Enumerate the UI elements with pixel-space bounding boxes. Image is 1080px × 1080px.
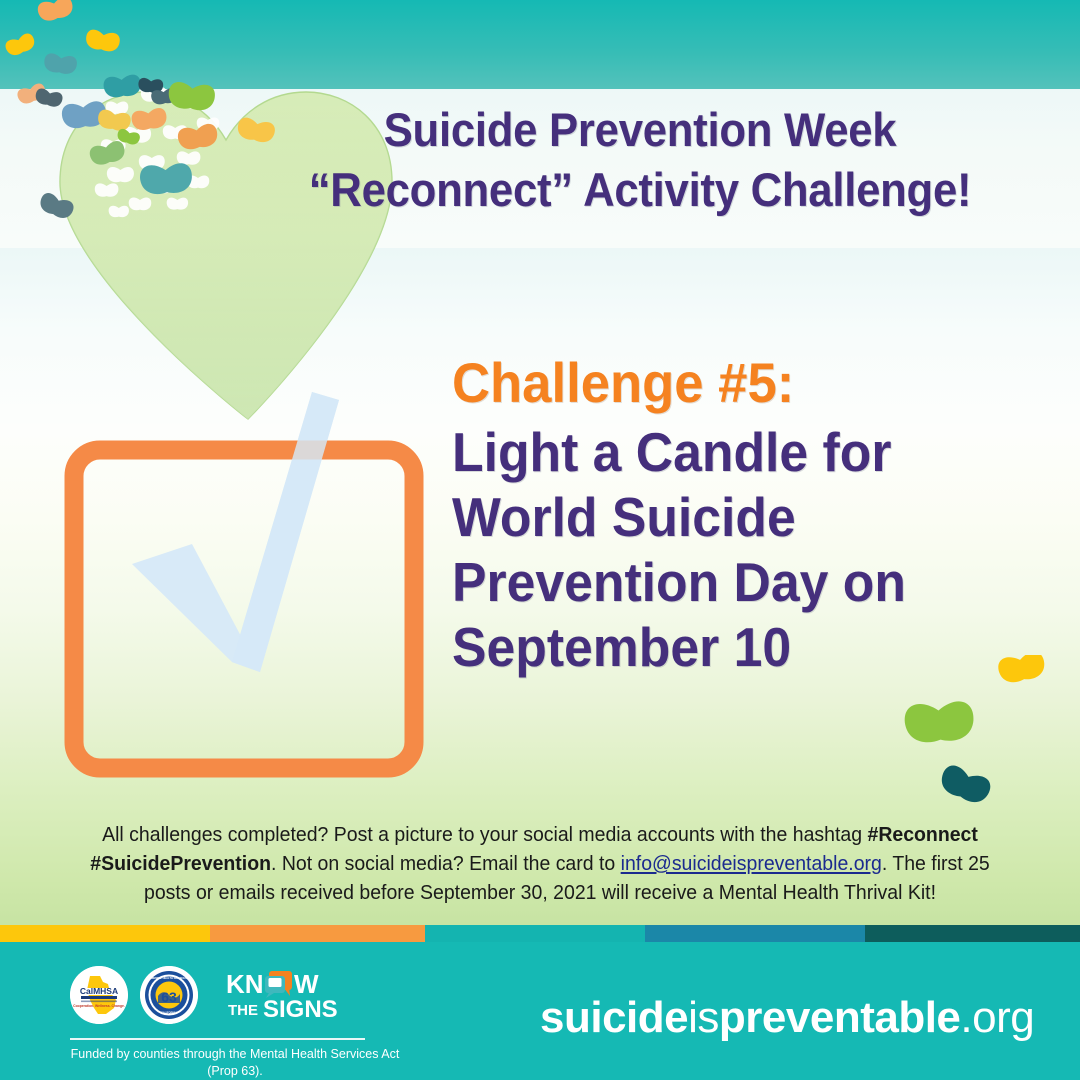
stripe-blue bbox=[645, 925, 865, 942]
stripe-yellow bbox=[0, 925, 210, 942]
kts-the-text: THE bbox=[228, 1002, 258, 1019]
challenge-number: Challenge #5: bbox=[452, 352, 978, 414]
footer-logo-group: CalMHSA Cooperation. Wellness. Change. 6… bbox=[70, 966, 352, 1024]
stripe-dark-teal bbox=[865, 925, 1080, 942]
speech-bubble-icon bbox=[265, 971, 292, 998]
header-title-line-2: “Reconnect” Activity Challenge! bbox=[268, 160, 1012, 220]
header-title-block: Suicide Prevention Week “Reconnect” Acti… bbox=[240, 100, 1040, 220]
footer-divider bbox=[70, 1038, 365, 1040]
website-url[interactable]: suicideispreventable.org bbox=[540, 988, 1040, 1048]
url-part-org: .org bbox=[960, 993, 1034, 1042]
url-part-suicide: suicide bbox=[540, 993, 688, 1042]
checkmark-icon bbox=[132, 392, 339, 672]
svg-text:Cooperation. Wellness. Change.: Cooperation. Wellness. Change. bbox=[73, 1004, 125, 1008]
challenge-title-line-3: Prevention Day on bbox=[452, 550, 978, 615]
url-part-is: is bbox=[688, 993, 719, 1042]
butterfly-icon bbox=[904, 700, 975, 744]
butterfly-group-bottom-right bbox=[900, 655, 1080, 820]
stripe-orange bbox=[210, 925, 425, 942]
body-hashtag-1: #Reconnect bbox=[867, 823, 977, 846]
butterfly-icon bbox=[937, 762, 993, 807]
funding-text: Funded by counties through the Mental He… bbox=[70, 1046, 400, 1080]
mhsoac-seal-logo: 63 MENTAL HEALTH SERVICES CALIFORNIA bbox=[140, 966, 198, 1024]
challenge-title: Light a Candle for World Suicide Prevent… bbox=[452, 420, 978, 680]
body-paragraph: All challenges completed? Post a picture… bbox=[65, 820, 1015, 907]
challenge-block: Challenge #5: Light a Candle for World S… bbox=[452, 352, 1012, 680]
kts-signs-text: SIGNS bbox=[263, 996, 338, 1023]
challenge-title-line-1: Light a Candle for bbox=[452, 420, 978, 485]
stripe-teal bbox=[425, 925, 645, 942]
header-title-line-1: Suicide Prevention Week bbox=[268, 100, 1012, 160]
svg-text:CALIFORNIA: CALIFORNIA bbox=[161, 1011, 177, 1015]
body-segment-1: All challenges completed? Post a picture… bbox=[102, 823, 867, 846]
kts-kn-text: KN bbox=[226, 969, 264, 999]
body-hashtag-2: #SuicidePrevention bbox=[90, 852, 271, 875]
color-stripe-band bbox=[0, 925, 1080, 942]
kts-w-text: W bbox=[294, 969, 319, 999]
challenge-title-line-2: World Suicide bbox=[452, 485, 978, 550]
know-the-signs-logo: KN W THE SIGNS bbox=[224, 967, 352, 1023]
body-segment-2: . Not on social media? Email the card to bbox=[271, 852, 621, 875]
url-part-preventable: preventable bbox=[719, 993, 960, 1042]
checkbox-square bbox=[74, 450, 414, 768]
checkbox-icon bbox=[64, 372, 444, 792]
svg-text:CalMHSA: CalMHSA bbox=[80, 986, 118, 996]
calmhsa-logo: CalMHSA Cooperation. Wellness. Change. bbox=[70, 966, 128, 1024]
email-link[interactable]: info@suicideispreventable.org bbox=[621, 852, 882, 875]
svg-text:MENTAL HEALTH SERVICES: MENTAL HEALTH SERVICES bbox=[151, 976, 187, 980]
svg-text:63: 63 bbox=[161, 989, 177, 1005]
poster-canvas: Suicide Prevention Week “Reconnect” Acti… bbox=[0, 0, 1080, 1080]
butterfly-icon bbox=[996, 655, 1047, 685]
